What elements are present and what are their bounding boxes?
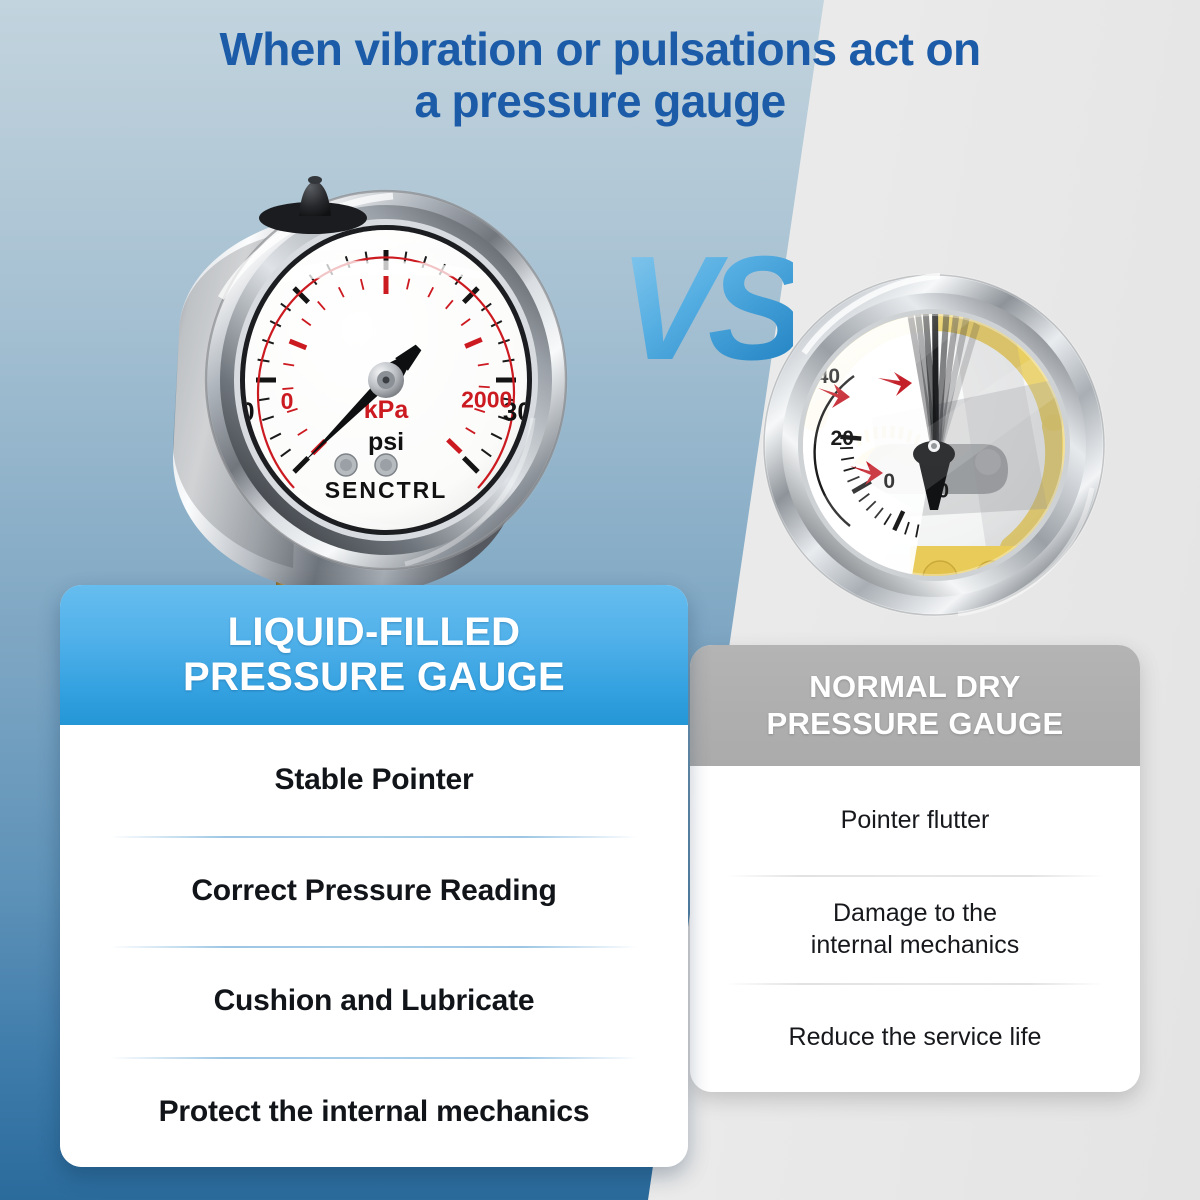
vs-label: VS: [619, 229, 793, 391]
liquid-filled-card: LIQUID-FILLED PRESSURE GAUGE Stable Poin…: [60, 585, 688, 1167]
svg-text:1000: 1000: [360, 158, 411, 175]
svg-text:psi: psi: [368, 428, 404, 456]
svg-text:250: 250: [560, 258, 568, 288]
list-item: Correct Pressure Reading: [60, 836, 688, 947]
dry-card-body: Pointer flutter Damage to the internal m…: [690, 766, 1140, 1092]
poster-canvas: When vibration or pulsations act on a pr…: [0, 0, 1200, 1200]
svg-text:0: 0: [281, 388, 294, 414]
liquid-filled-gauge-image: 0 50 100 150 200 250 300 0 500 1000 1500…: [143, 158, 568, 603]
svg-text:SENCTRL: SENCTRL: [325, 477, 448, 503]
svg-text:2000: 2000: [461, 386, 512, 412]
list-item: Cushion and Lubricate: [60, 946, 688, 1057]
dry-card-heading: NORMAL DRY PRESSURE GAUGE: [690, 645, 1140, 766]
page-title: When vibration or pulsations act on a pr…: [0, 24, 1200, 127]
list-item: Damage to the internal mechanics: [690, 875, 1140, 984]
liquid-card-heading: LIQUID-FILLED PRESSURE GAUGE: [60, 585, 688, 725]
list-item: Stable Pointer: [60, 725, 688, 836]
list-item: Pointer flutter: [690, 766, 1140, 875]
vs-badge: VS: [613, 229, 793, 394]
normal-dry-gauge-image: 0 20 40 0: [762, 258, 1107, 643]
svg-text:20: 20: [831, 427, 854, 450]
list-item: Reduce the service life: [690, 983, 1140, 1092]
dry-gauge-card: NORMAL DRY PRESSURE GAUGE Pointer flutte…: [690, 645, 1140, 1092]
list-item: Protect the internal mechanics: [60, 1057, 688, 1168]
liquid-card-body: Stable Pointer Correct Pressure Reading …: [60, 725, 688, 1167]
